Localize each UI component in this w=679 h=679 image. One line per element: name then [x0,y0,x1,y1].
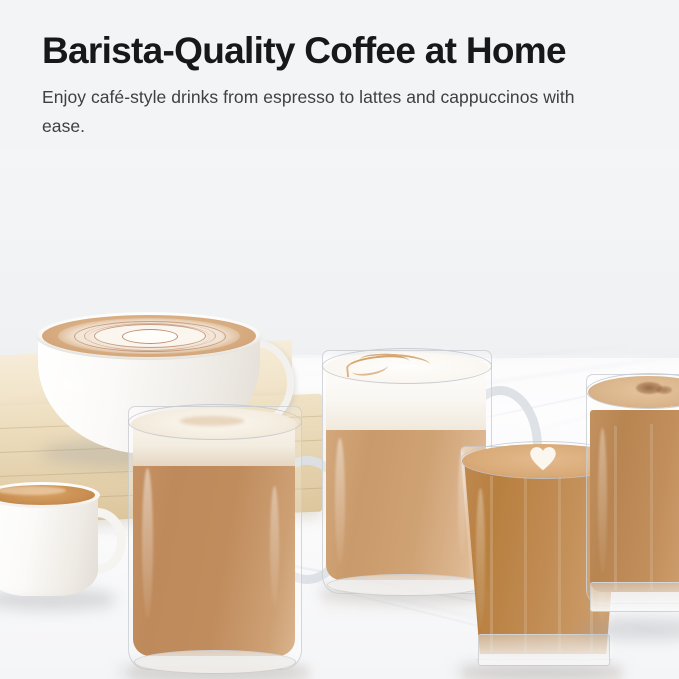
espresso-cup [0,480,110,600]
cortado-facet [558,474,561,652]
latte-mug [118,398,318,676]
hero-text-block: Barista-Quality Coffee at Home Enjoy caf… [42,30,662,140]
cappuccino-cup-highlight [62,366,84,428]
counter-reflection [322,590,492,620]
counter-reflection [130,666,310,679]
coffee-product-photo [0,150,679,679]
latte-art-petal [88,323,210,351]
latte-mug-highlight [270,486,279,606]
cortado-facet [490,476,493,652]
page-subtitle: Enjoy café-style drinks from espresso to… [42,83,582,140]
counter-reflection [0,594,110,620]
hero-banner: Barista-Quality Coffee at Home Enjoy caf… [0,0,679,679]
counter-reflection [462,668,622,679]
latte-mug-highlight [142,468,153,618]
mocha-facet [614,426,617,590]
mocha-highlight [598,428,607,574]
mocha-facet [650,424,653,590]
page-title: Barista-Quality Coffee at Home [42,30,662,71]
tall-latte-highlight [335,438,345,564]
cocoa-dusting [656,386,672,394]
cortado-base [478,634,610,666]
mocha-base [590,582,679,612]
cortado-facet [524,474,527,652]
latte-mug-dusting [180,416,244,426]
mocha-glass [580,366,679,628]
espresso-cup-body [0,494,98,596]
heart-latte-art [512,446,574,472]
